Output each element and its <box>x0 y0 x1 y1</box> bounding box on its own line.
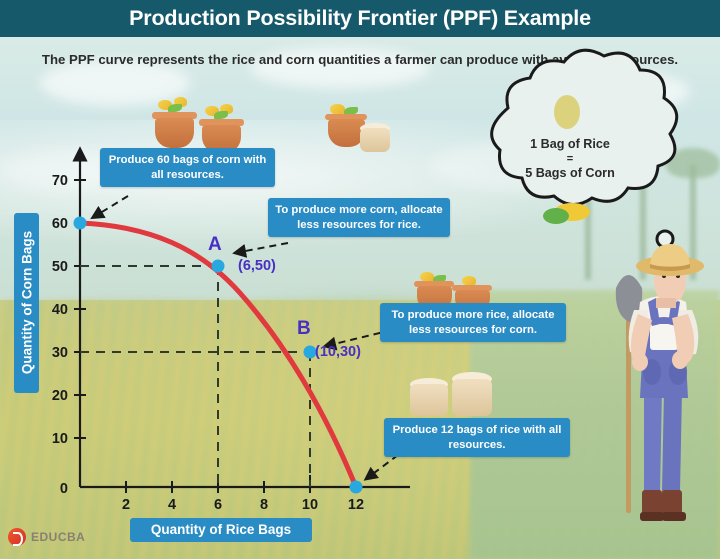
thought-bubble-text: 1 Bag of Rice = 5 Bags of Corn <box>470 136 670 182</box>
rice-sack-icon <box>452 379 492 416</box>
palm-fronds-2 <box>666 148 720 178</box>
callout-produce-60-corn: Produce 60 bags of corn with all resourc… <box>100 148 275 187</box>
farmer-legs <box>640 390 686 521</box>
page-title: Production Possibility Frontier (PPF) Ex… <box>129 6 591 31</box>
educba-logo-text: EDUCBA <box>31 530 85 544</box>
bubble-line-1: 1 Bag of Rice <box>470 136 670 153</box>
point-b-coordinates: (10,30) <box>315 344 361 360</box>
point-a-letter: A <box>208 234 222 256</box>
educba-logo-icon <box>8 528 26 546</box>
farmer-illustration <box>600 240 720 525</box>
subtitle-text: The PPF curve represents the rice and co… <box>40 50 680 69</box>
straw-hat-icon <box>636 244 704 276</box>
thought-bubble: 1 Bag of Rice = 5 Bags of Corn <box>470 84 670 246</box>
infographic-root: Production Possibility Frontier (PPF) Ex… <box>0 0 720 559</box>
point-a-coordinates: (6,50) <box>238 258 276 274</box>
rice-sack-icon <box>410 384 448 416</box>
callout-more-rice: To produce more rice, allocate less reso… <box>380 303 566 342</box>
y-axis-label: Quantity of Corn Bags <box>14 213 39 393</box>
educba-logo: EDUCBA <box>8 528 85 546</box>
rice-sack-icon <box>360 128 390 152</box>
bubble-line-2: 5 Bags of Corn <box>470 165 670 182</box>
callout-produce-12-rice: Produce 12 bags of rice with all resourc… <box>384 418 570 457</box>
callout-more-corn: To produce more corn, allocate less reso… <box>268 198 450 237</box>
farmer-hand-left <box>632 353 648 371</box>
y-axis-label-text: Quantity of Corn Bags <box>15 213 40 393</box>
farmer-hand-right <box>672 351 688 369</box>
point-b-letter: B <box>297 318 311 340</box>
corn-pot-icon <box>155 118 194 148</box>
x-axis-label: Quantity of Rice Bags <box>130 518 312 542</box>
title-bar: Production Possibility Frontier (PPF) Ex… <box>0 0 720 37</box>
bubble-equals: = <box>470 153 670 165</box>
